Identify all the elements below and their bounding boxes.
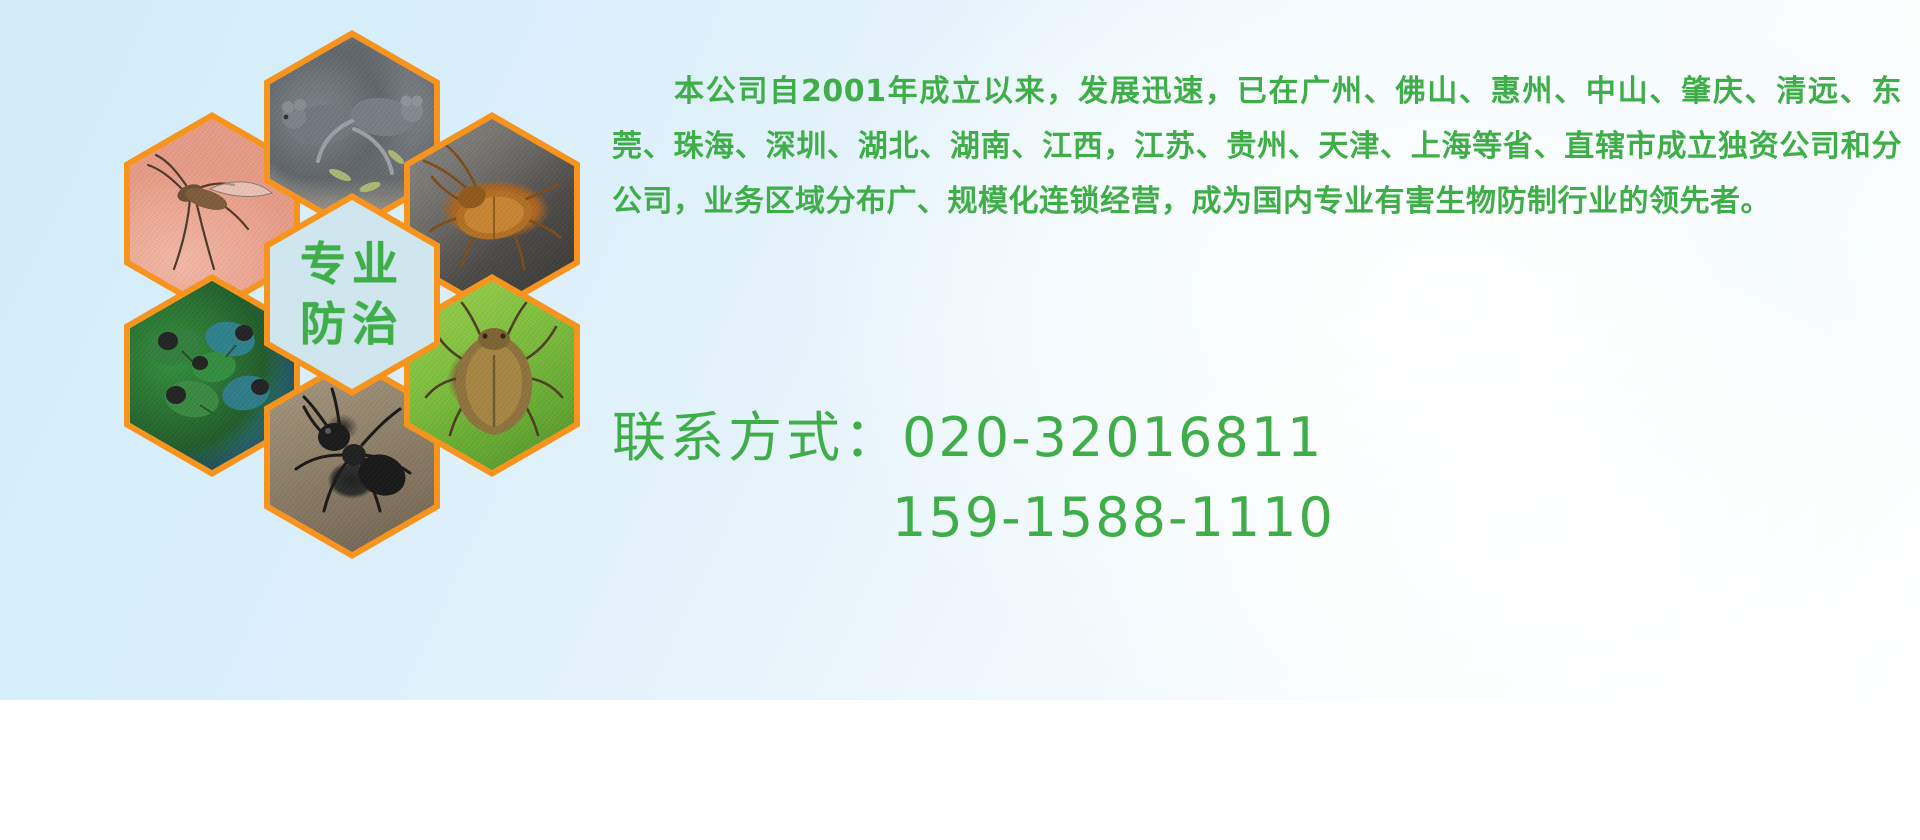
- contact-block: 联系方式：020-32016811 159-1588-1110: [612, 398, 1902, 558]
- center-label-line1: 专业: [300, 239, 404, 291]
- center-label-text: 专业 防治: [300, 239, 404, 350]
- center-label-line2: 防治: [300, 299, 404, 351]
- intro-copy-block: 本公司自2001年成立以来，发展迅速，已在广州、佛山、惠州、中山、肇庆、清远、东…: [612, 34, 1902, 259]
- intro-paragraph: 本公司自2001年成立以来，发展迅速，已在广州、佛山、惠州、中山、肇庆、清远、东…: [612, 64, 1902, 229]
- promo-banner: 专业 防治 本公司自2001年成立以来，发展迅速，已在广州、佛山、惠州、中山、肇…: [0, 0, 1920, 700]
- contact-label: 联系方式：: [612, 406, 902, 469]
- contact-line-mobile: 159-1588-1110: [612, 478, 1902, 558]
- honeycomb-cluster: 专业 防治: [88, 0, 588, 580]
- phone-mobile[interactable]: 159-1588-1110: [892, 486, 1335, 549]
- contact-line-landline: 联系方式：020-32016811: [612, 398, 1902, 478]
- center-label-backdrop: 专业 防治: [270, 200, 434, 389]
- phone-landline[interactable]: 020-32016811: [902, 406, 1323, 469]
